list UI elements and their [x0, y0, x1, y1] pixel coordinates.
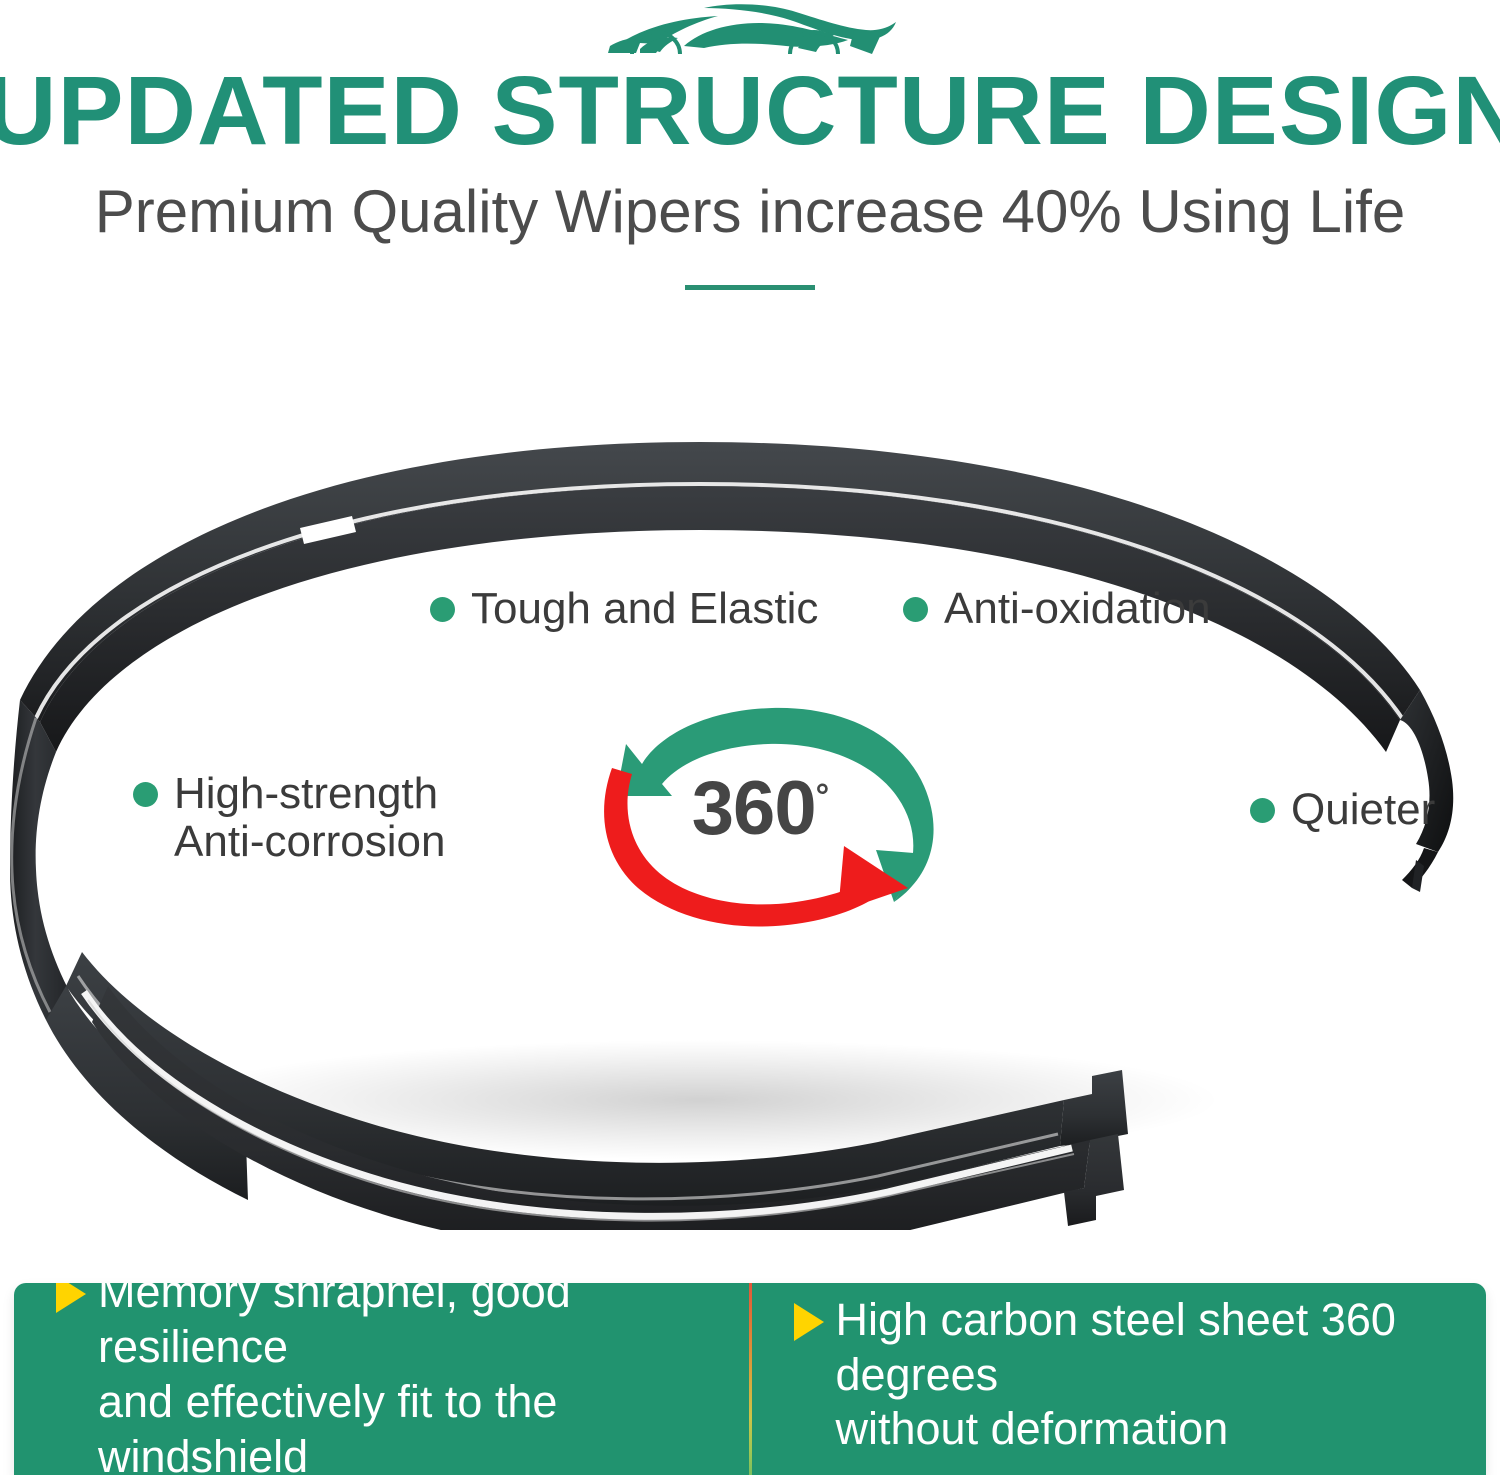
feature-callout-anti-oxidation: Anti-oxidation: [903, 585, 1211, 633]
rotation-arrows-icon: [576, 700, 956, 930]
bullet-dot-icon: [1250, 798, 1275, 823]
page-subtitle: Premium Quality Wipers increase 40% Usin…: [0, 180, 1500, 243]
feature-callout-quieter: Quieter: [1250, 786, 1435, 834]
bullet-dot-icon: [903, 597, 928, 622]
feature-callout-high-strength: High-strength Anti-corrosion: [133, 770, 445, 865]
feature-label: Anti-oxidation: [944, 585, 1211, 633]
page-title: UPDATED STRUCTURE DESIGN: [0, 62, 1500, 159]
bullet-dot-icon: [430, 597, 455, 622]
bullet-dot-icon: [133, 782, 158, 807]
banner-memory-shrapnel: Memory shrapnel, good resilience and eff…: [14, 1283, 749, 1475]
banner-text: High carbon steel sheet 360 degrees with…: [836, 1293, 1459, 1458]
feature-label: Quieter: [1291, 786, 1435, 834]
banner-high-carbon-steel: High carbon steel sheet 360 degrees with…: [752, 1283, 1487, 1475]
car-silhouette-logo-icon: [600, 2, 900, 64]
triangle-right-icon: [56, 1283, 86, 1313]
banner-text: Memory shrapnel, good resilience and eff…: [98, 1283, 721, 1475]
brand-logo: [0, 2, 1500, 64]
bottom-banner-bar: Memory shrapnel, good resilience and eff…: [14, 1283, 1486, 1475]
triangle-right-icon: [794, 1303, 824, 1341]
360-degree-badge: 360°: [576, 700, 956, 930]
feature-callout-tough-and-elastic: Tough and Elastic: [430, 585, 818, 633]
banner-inner: High carbon steel sheet 360 degrees with…: [794, 1293, 1459, 1458]
feature-label: Tough and Elastic: [471, 585, 818, 633]
feature-label: High-strength Anti-corrosion: [174, 770, 445, 865]
infographic-page: UPDATED STRUCTURE DESIGN Premium Quality…: [0, 0, 1500, 1475]
title-divider: [685, 285, 815, 290]
banner-inner: Memory shrapnel, good resilience and eff…: [56, 1283, 721, 1475]
